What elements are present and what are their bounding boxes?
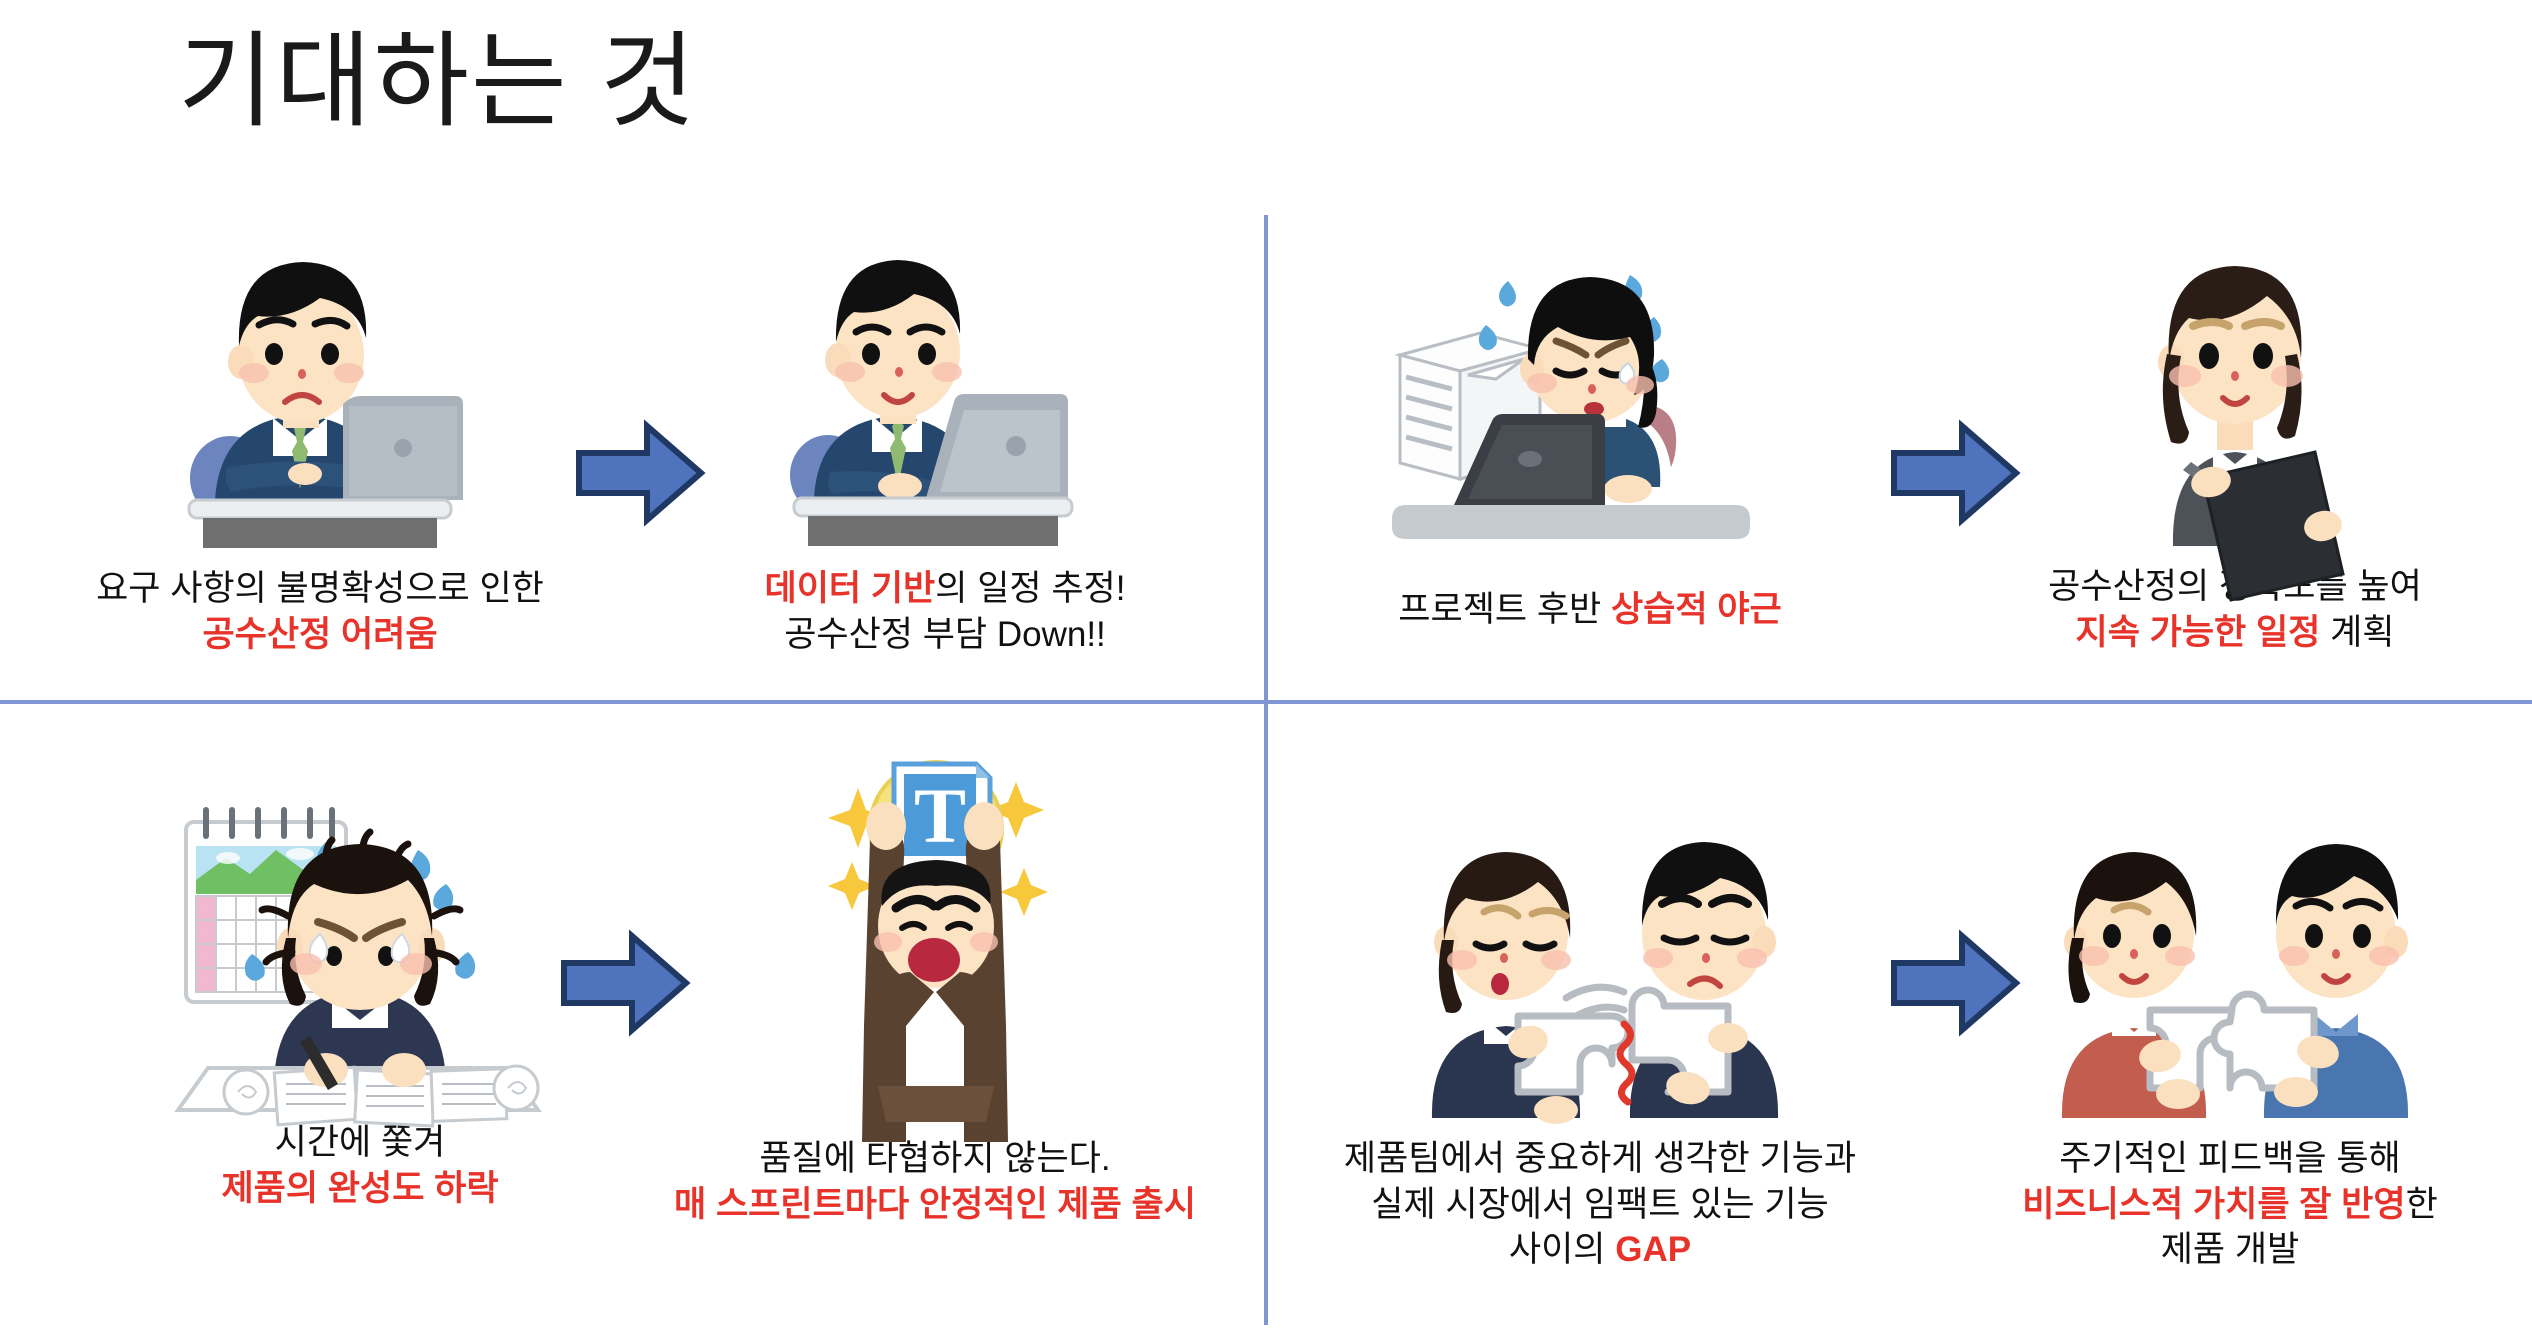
caption-q2-before: 프로젝트 후반 상습적 야근 xyxy=(1398,587,1781,633)
illustration-stressed-woman-overtime-paper-stack xyxy=(1390,255,1790,545)
caption-plain: 의 일정 추정! xyxy=(935,569,1125,608)
divider-vertical xyxy=(1264,215,1268,1325)
illustration-worried-businessman-at-laptop xyxy=(155,250,485,550)
caption-line: 실제 시장에서 임팩트 있는 기능 xyxy=(1344,1182,1856,1228)
caption-plain: 프로젝트 후반 xyxy=(1398,590,1611,629)
cell-q4-after: 주기적인 피드백을 통해 비즈니스적 가치를 잘 반영한 제품 개발 xyxy=(1950,830,2510,1273)
caption-line: 사이의 GAP xyxy=(1344,1227,1856,1273)
caption-line: 비즈니스적 가치를 잘 반영한 xyxy=(2022,1182,2438,1228)
page-title: 기대하는 것 xyxy=(178,20,697,145)
caption-line-highlight: 매 스프린트마다 안정적인 제품 출시 xyxy=(674,1182,1196,1228)
caption-line: 제품팀에서 중요하게 생각한 기능과 xyxy=(1344,1136,1856,1182)
caption-highlight: 비즈니스적 가치를 잘 반영 xyxy=(2022,1185,2405,1224)
caption-q4-before: 제품팀에서 중요하게 생각한 기능과 실제 시장에서 임팩트 있는 기능 사이의… xyxy=(1344,1136,1856,1273)
illustration-stressed-woman-deadline-calendar xyxy=(150,740,570,1110)
caption-line: 프로젝트 후반 상습적 야근 xyxy=(1398,587,1781,633)
caption-line: 시간에 쫓겨 xyxy=(221,1120,498,1166)
caption-line: 요구 사항의 불명확성으로 인한 xyxy=(96,566,544,612)
caption-line: 주기적인 피드백을 통해 xyxy=(2022,1136,2438,1182)
cell-q3-after: T xyxy=(625,730,1245,1227)
divider-horizontal-left xyxy=(0,700,1266,704)
caption-line: 품질에 타협하지 않는다. xyxy=(674,1136,1196,1182)
cell-q2-before: 프로젝트 후반 상습적 야근 xyxy=(1330,255,1850,633)
caption-line-highlight: 공수산정 어려움 xyxy=(96,612,544,658)
caption-plain: 한 xyxy=(2406,1185,2438,1224)
illustration-businesswoman-with-clipboard xyxy=(2085,250,2385,550)
caption-line: 지속 가능한 일정 계획 xyxy=(2048,610,2422,656)
caption-plain: 사이의 xyxy=(1509,1230,1615,1269)
caption-q3-after: 품질에 타협하지 않는다. 매 스프린트마다 안정적인 제품 출시 xyxy=(674,1136,1196,1227)
caption-line-highlight: 제품의 완성도 하락 xyxy=(221,1166,498,1212)
illustration-two-people-mismatched-puzzle-pieces xyxy=(1380,830,1820,1120)
svg-text:T: T xyxy=(914,772,966,859)
caption-plain: 계획 xyxy=(2320,613,2394,652)
divider-horizontal-right xyxy=(1264,700,2532,704)
caption-line: 공수산정 부담 Down!! xyxy=(765,612,1126,658)
cell-q4-before: 제품팀에서 중요하게 생각한 기능과 실제 시장에서 임팩트 있는 기능 사이의… xyxy=(1300,830,1900,1273)
illustration-smiling-businessman-typing-laptop xyxy=(780,250,1110,550)
caption-line: 데이터 기반의 일정 추정! xyxy=(765,566,1126,612)
caption-highlight: 상습적 야근 xyxy=(1611,590,1782,629)
caption-q4-after: 주기적인 피드백을 통해 비즈니스적 가치를 잘 반영한 제품 개발 xyxy=(2022,1136,2438,1273)
slide-canvas: 기대하는 것 xyxy=(0,0,2532,1342)
caption-q3-before: 시간에 쫓겨 제품의 완성도 하락 xyxy=(221,1120,498,1211)
caption-highlight: 데이터 기반 xyxy=(765,569,936,608)
caption-highlight: GAP xyxy=(1615,1230,1691,1269)
illustration-two-people-joining-puzzle-pieces xyxy=(2010,830,2450,1120)
cell-q1-after: 데이터 기반의 일정 추정! 공수산정 부담 Down!! xyxy=(645,250,1245,657)
caption-q1-before: 요구 사항의 불명확성으로 인한 공수산정 어려움 xyxy=(96,566,544,657)
caption-line: 제품 개발 xyxy=(2022,1227,2438,1273)
cell-q3-before: 시간에 쫓겨 제품의 완성도 하락 xyxy=(80,740,640,1211)
caption-q1-after: 데이터 기반의 일정 추정! 공수산정 부담 Down!! xyxy=(765,566,1126,657)
cell-q2-after: 공수산정의 정확도를 높여 지속 가능한 일정 계획 xyxy=(1960,250,2510,655)
caption-highlight: 지속 가능한 일정 xyxy=(2076,613,2321,652)
cell-q1-before: 요구 사항의 불명확성으로 인한 공수산정 어려움 xyxy=(30,250,610,657)
illustration-cheering-man-lifting-trophy-with-t-badge: T xyxy=(770,730,1100,1120)
